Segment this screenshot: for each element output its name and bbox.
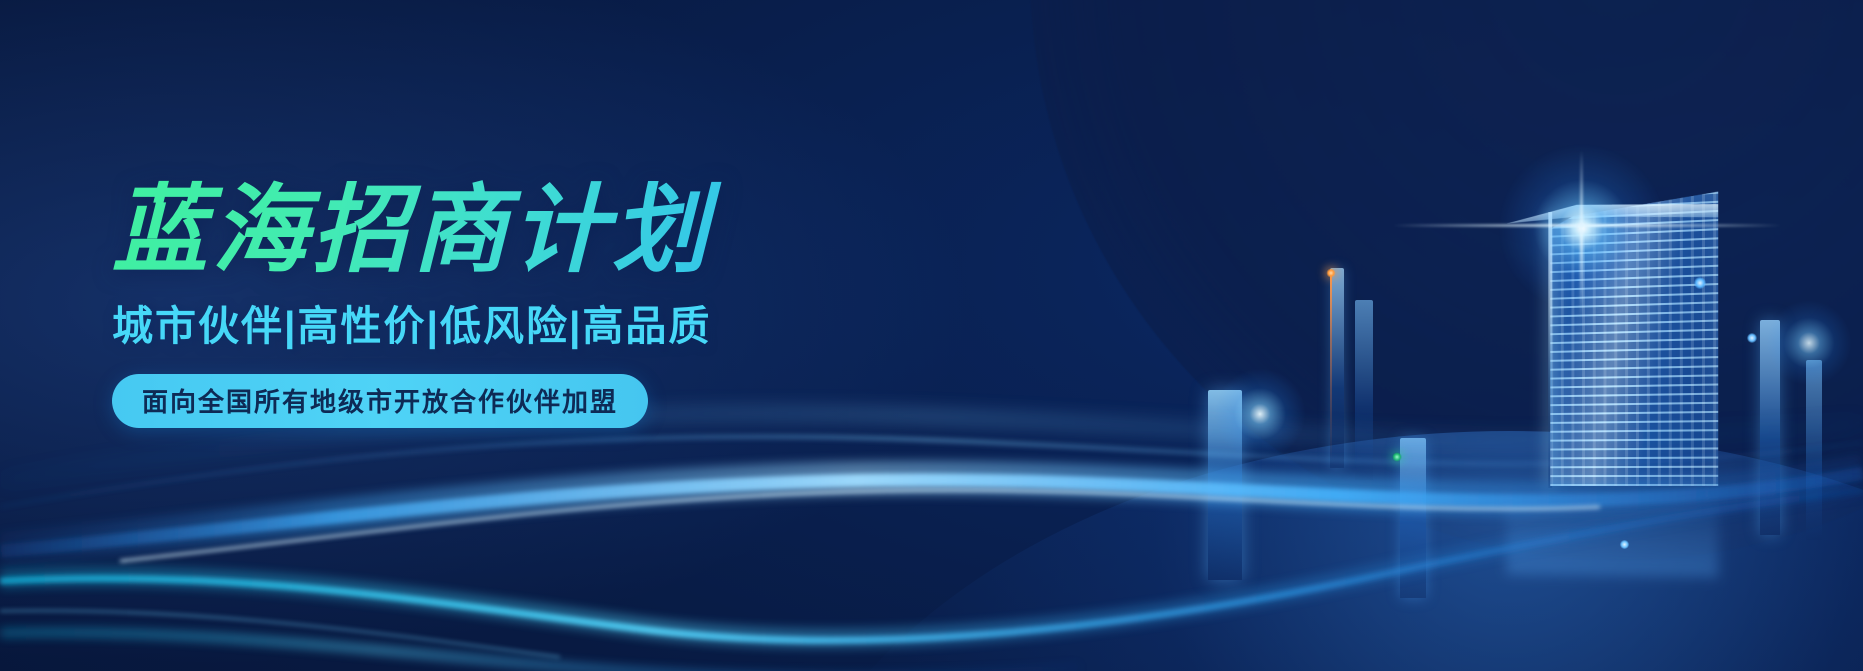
- promo-banner: 蓝海招商计划 城市伙伴|高性价|低风险|高品质 面向全国所有地级市开放合作伙伴加…: [0, 0, 1863, 671]
- tower-3: [1330, 268, 1344, 468]
- dot-blue-2: [1747, 333, 1757, 343]
- banner-subtitle: 城市伙伴|高性价|低风险|高品质: [112, 292, 872, 352]
- tower-2: [1400, 438, 1426, 598]
- wave-ribbon-low-left-2: [0, 611, 560, 657]
- building-reflection: [1506, 486, 1718, 577]
- skyscraper-illustration: [1550, 192, 1718, 486]
- tower-4: [1355, 300, 1373, 480]
- banner-cta-badge[interactable]: 面向全国所有地级市开放合作伙伴加盟: [112, 374, 648, 428]
- building-windows: [1550, 192, 1718, 486]
- tower-flare-left: [1214, 368, 1306, 460]
- dot-blue-1: [1694, 277, 1706, 289]
- tower-flare-right: [1766, 300, 1852, 386]
- building-edge-highlight: [1548, 212, 1552, 488]
- banner-title: 蓝海招商计划: [112, 180, 872, 282]
- antenna-tip-light-icon: [1326, 268, 1336, 278]
- banner-content: 蓝海招商计划 城市伙伴|高性价|低风险|高品质 面向全国所有地级市开放合作伙伴加…: [112, 180, 872, 428]
- dot-blue-3: [1620, 540, 1629, 549]
- dot-green: [1392, 452, 1402, 462]
- flare-streak-horizontal: [1392, 224, 1782, 227]
- tower-6: [1806, 360, 1822, 540]
- flare-streak-vertical: [1580, 150, 1583, 320]
- antenna-mast: [1330, 274, 1332, 459]
